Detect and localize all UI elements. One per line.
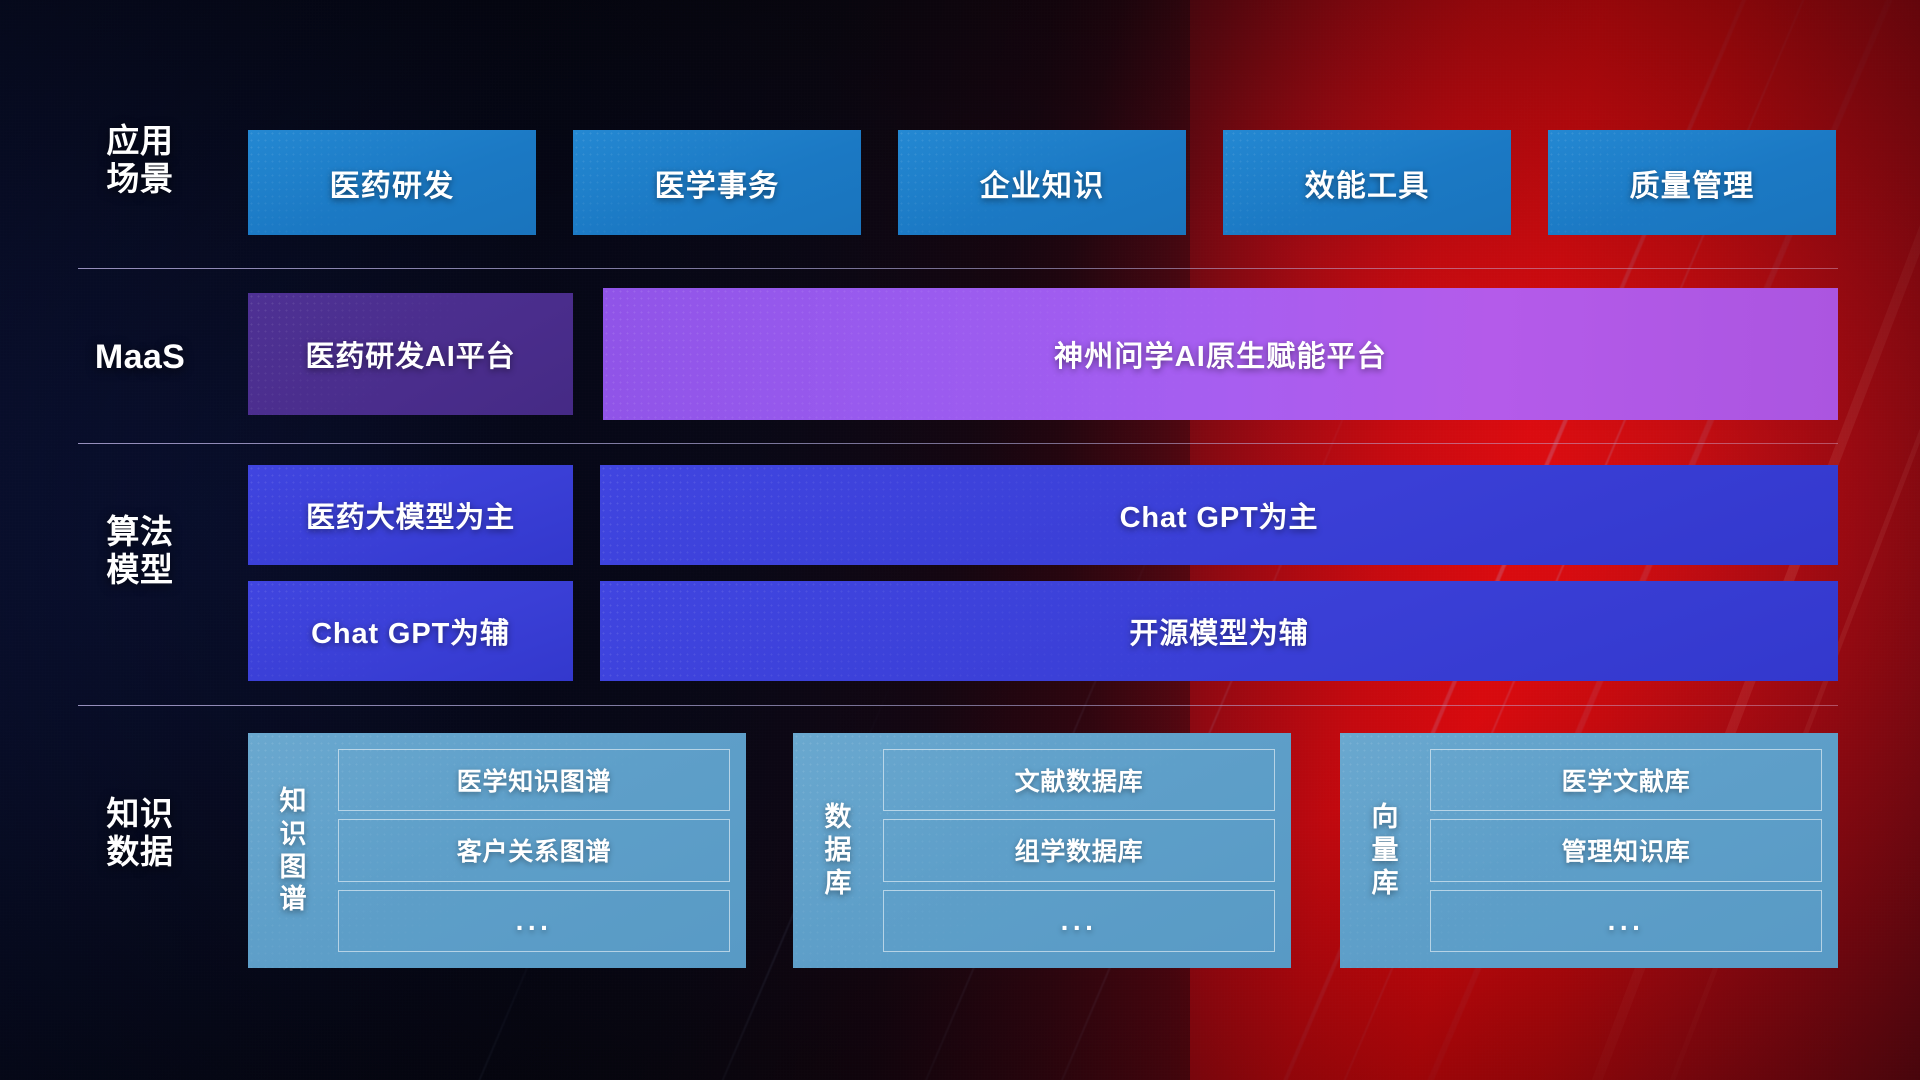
maas-card-pharma-ai-platform[interactable]: 医药研发AI平台 <box>248 293 573 415</box>
knowledge-item[interactable]: 医学文献库 <box>1430 749 1822 811</box>
knowledge-panel-vertical-label: 数 据 库 <box>807 745 869 956</box>
knowledge-panel-database[interactable]: 数 据 库 文献数据库 组学数据库 ... <box>793 733 1291 968</box>
knowledge-item-list: 文献数据库 组学数据库 ... <box>883 745 1275 956</box>
row-label-knowledge: 知识 数据 <box>78 795 202 870</box>
vlabel-char: 知 <box>280 785 307 818</box>
algo-card-label: Chat GPT为主 <box>1120 494 1319 536</box>
vlabel-char: 图 <box>280 851 307 884</box>
knowledge-panel-vertical-label: 向 量 库 <box>1354 745 1416 956</box>
algo-card-label: 医药大模型为主 <box>306 494 515 536</box>
app-card-quality-management[interactable]: 质量管理 <box>1548 130 1836 235</box>
vlabel-char: 向 <box>1372 801 1399 834</box>
knowledge-item[interactable]: 客户关系图谱 <box>338 819 730 881</box>
knowledge-item[interactable]: 文献数据库 <box>883 749 1275 811</box>
app-card-pharma-rd[interactable]: 医药研发 <box>248 130 536 235</box>
vlabel-char: 库 <box>825 867 852 900</box>
app-card-label: 质量管理 <box>1630 161 1755 205</box>
row-label-application: 应用 场景 <box>78 122 202 197</box>
knowledge-item-more[interactable]: ... <box>883 890 1275 952</box>
knowledge-item-more[interactable]: ... <box>1430 890 1822 952</box>
app-card-label: 效能工具 <box>1305 161 1430 205</box>
app-card-medical-affairs[interactable]: 医学事务 <box>573 130 861 235</box>
algo-card-label: 开源模型为辅 <box>1129 610 1308 652</box>
row-label-algorithm: 算法 模型 <box>78 513 202 588</box>
knowledge-panel-vertical-label: 知 识 图 谱 <box>262 745 324 956</box>
vlabel-char: 识 <box>280 818 307 851</box>
algo-card-chatgpt-primary[interactable]: Chat GPT为主 <box>600 465 1838 565</box>
knowledge-item[interactable]: 医学知识图谱 <box>338 749 730 811</box>
divider-algorithm-knowledge <box>78 705 1838 706</box>
knowledge-item-list: 医学知识图谱 客户关系图谱 ... <box>338 745 730 956</box>
knowledge-panel-vector-store[interactable]: 向 量 库 医学文献库 管理知识库 ... <box>1340 733 1838 968</box>
app-card-label: 医学事务 <box>655 161 780 205</box>
app-card-label: 医药研发 <box>330 161 455 205</box>
knowledge-item[interactable]: 管理知识库 <box>1430 819 1822 881</box>
vlabel-char: 量 <box>1372 834 1399 867</box>
algo-card-opensource-secondary[interactable]: 开源模型为辅 <box>600 581 1838 681</box>
algo-card-label: Chat GPT为辅 <box>311 610 510 652</box>
row-label-maas: MaaS <box>72 338 208 377</box>
app-card-efficiency-tools[interactable]: 效能工具 <box>1223 130 1511 235</box>
algo-card-chatgpt-secondary[interactable]: Chat GPT为辅 <box>248 581 573 681</box>
knowledge-panel-knowledge-graph[interactable]: 知 识 图 谱 医学知识图谱 客户关系图谱 ... <box>248 733 746 968</box>
maas-card-shenzhou-wenxue-platform[interactable]: 神州问学AI原生赋能平台 <box>603 288 1838 420</box>
vlabel-char: 数 <box>825 801 852 834</box>
knowledge-item-list: 医学文献库 管理知识库 ... <box>1430 745 1822 956</box>
divider-application-maas <box>78 268 1838 269</box>
knowledge-item-more[interactable]: ... <box>338 890 730 952</box>
divider-maas-algorithm <box>78 443 1838 444</box>
app-card-label: 企业知识 <box>980 161 1105 205</box>
knowledge-item[interactable]: 组学数据库 <box>883 819 1275 881</box>
algo-card-pharma-llm-primary[interactable]: 医药大模型为主 <box>248 465 573 565</box>
vlabel-char: 据 <box>825 834 852 867</box>
maas-card-label: 神州问学AI原生赋能平台 <box>1054 333 1387 375</box>
vlabel-char: 库 <box>1372 867 1399 900</box>
app-card-enterprise-knowledge[interactable]: 企业知识 <box>898 130 1186 235</box>
maas-card-label: 医药研发AI平台 <box>306 333 516 375</box>
vlabel-char: 谱 <box>280 883 307 916</box>
architecture-diagram: 应用 场景 医药研发 医学事务 企业知识 效能工具 质量管理 MaaS 医药研发… <box>0 0 1920 1080</box>
